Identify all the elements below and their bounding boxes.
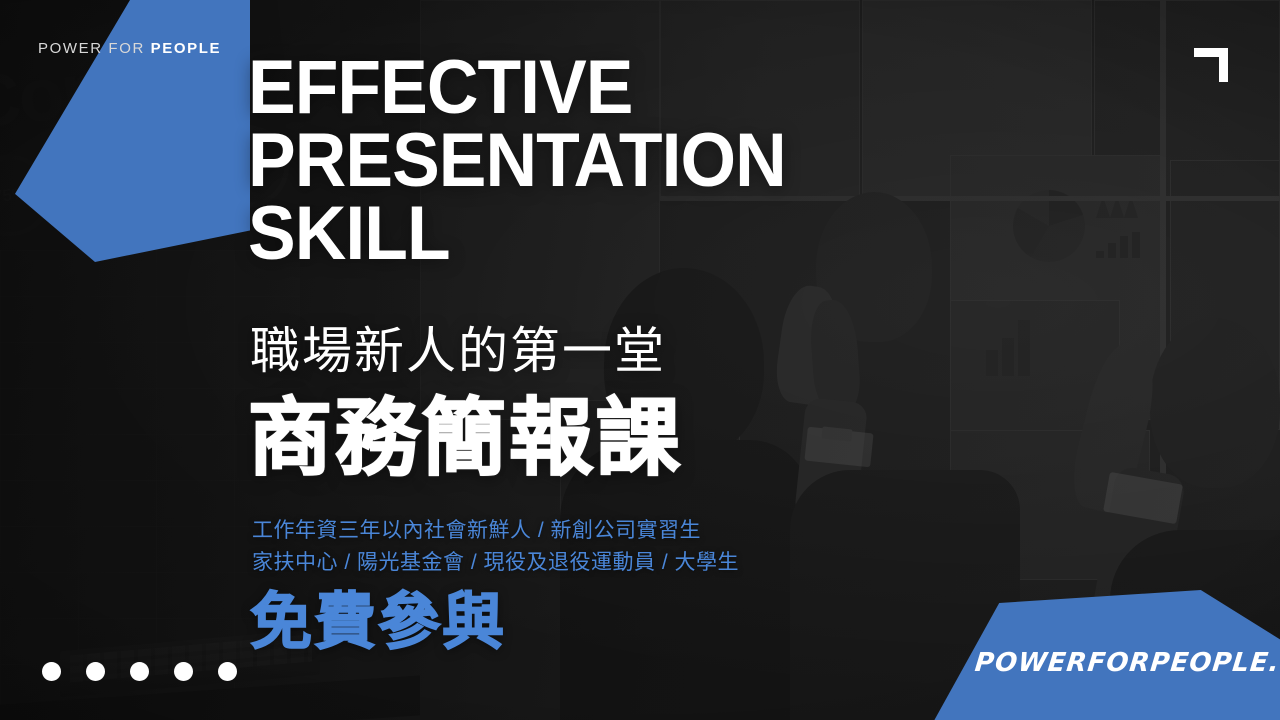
dot — [218, 662, 237, 681]
price-label: 免費參與 — [250, 592, 506, 654]
subtitle-chinese: 職場新人的第一堂 — [250, 326, 666, 376]
decorative-dots — [42, 662, 237, 681]
brand-logo-prefix: POWER FOR — [38, 40, 151, 57]
dot — [42, 662, 61, 681]
brand-logo: POWER FOR PEOPLE — [38, 40, 221, 57]
website-url: POWERFORPEOPLE.COM — [973, 648, 1280, 678]
brand-logo-bold: PEOPLE — [151, 40, 221, 57]
dot — [86, 662, 105, 681]
audience-line-1: 工作年資三年以內社會新鮮人 / 新創公司實習生 — [252, 515, 739, 547]
presentation-slide: Comme 75% 50% POWER FOR PEOPLE EFFEC — [0, 0, 1280, 720]
corner-bracket-icon — [1194, 48, 1228, 82]
audience-list: 工作年資三年以內社會新鮮人 / 新創公司實習生 家扶中心 / 陽光基金會 / 現… — [252, 515, 739, 579]
headline-english: EFFECTIVE PRESENTATION SKILL — [248, 52, 786, 271]
title-chinese: 商務簡報課 — [248, 396, 683, 480]
audience-line-2: 家扶中心 / 陽光基金會 / 現役及退役運動員 / 大學生 — [252, 547, 739, 579]
dot — [174, 662, 193, 681]
dot — [130, 662, 149, 681]
